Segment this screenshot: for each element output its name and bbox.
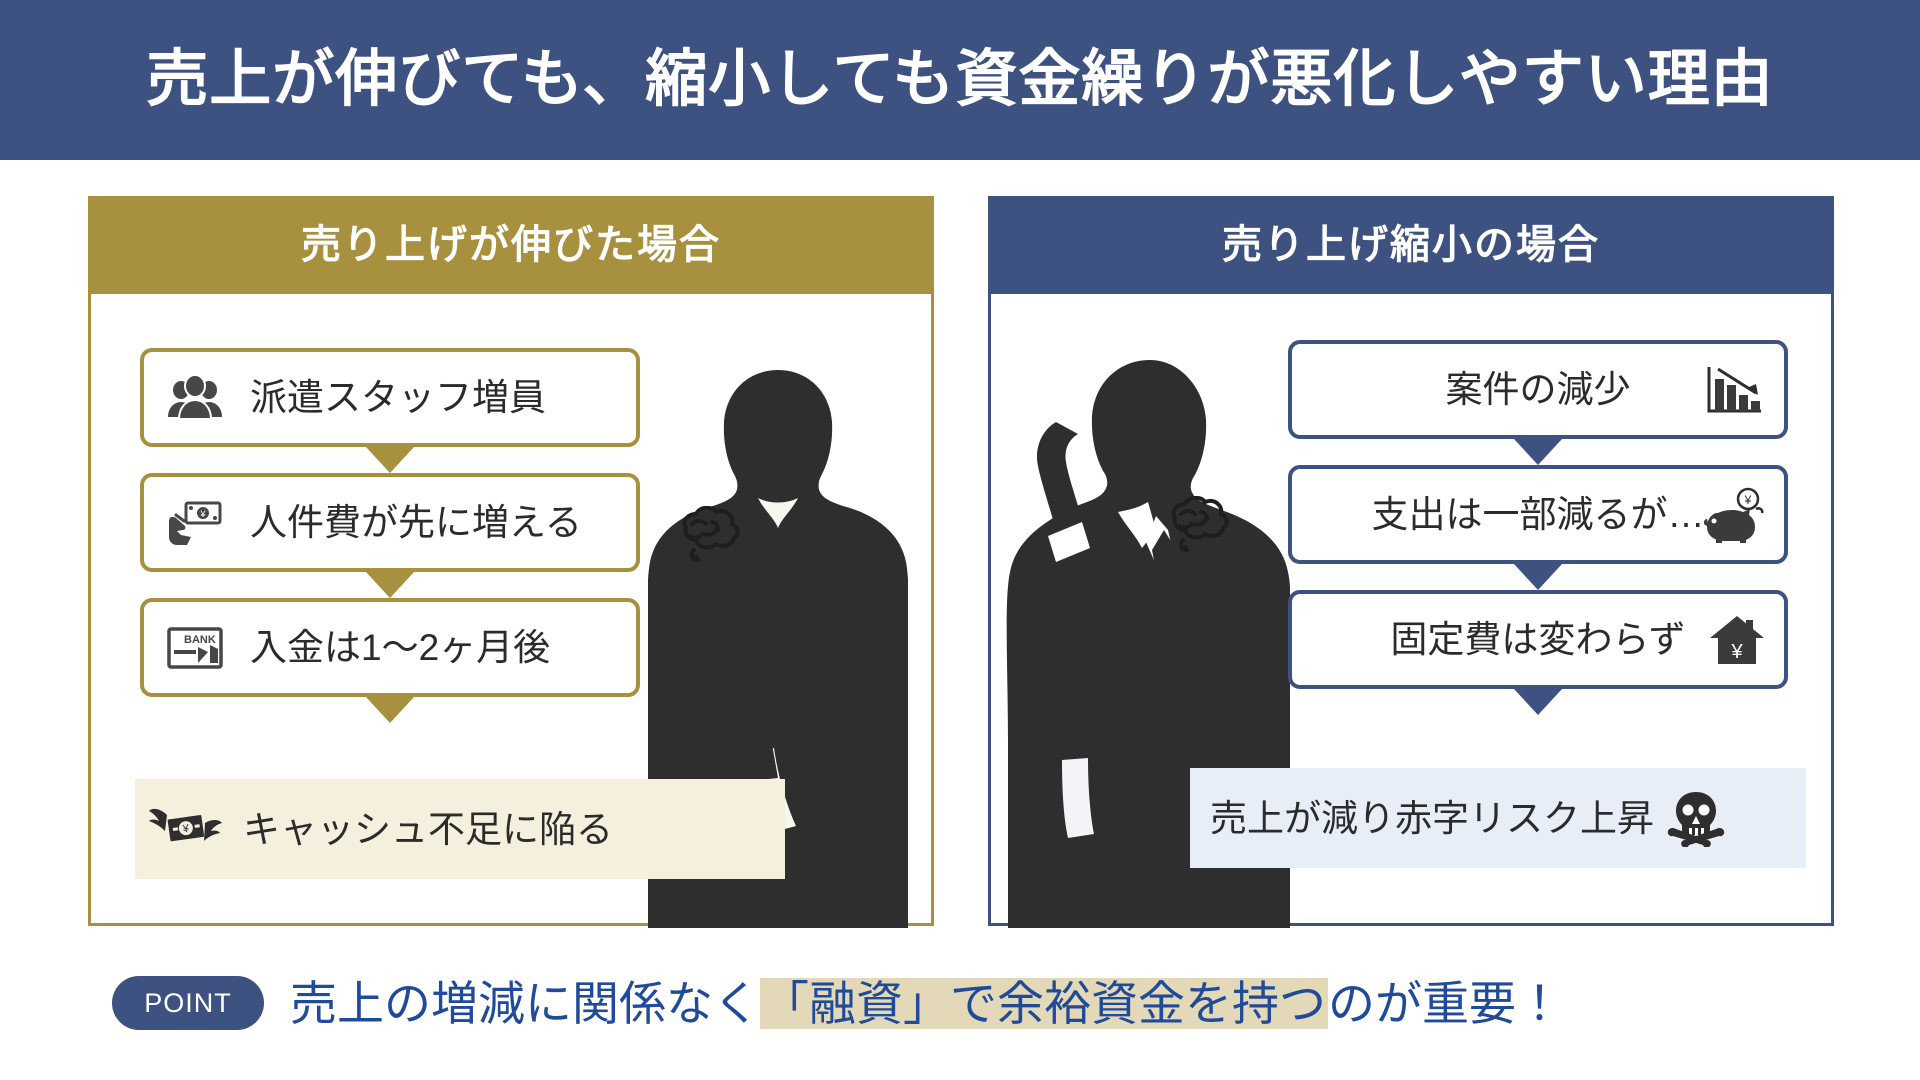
point-badge: POINT [112, 976, 264, 1030]
footer-point: POINT 売上の増減に関係なく 「融資」で余裕資金を持つ のが重要！ [0, 958, 1920, 1048]
page-header: 売上が伸びても、縮小しても資金繰りが悪化しやすい理由 [0, 0, 1920, 160]
panel-decline-header: 売り上げ縮小の場合 [988, 196, 1834, 294]
footer-text-after: のが重要！ [1328, 980, 1563, 1027]
flow-step-box[interactable]: BANK 入金は1〜2ヶ月後 [140, 598, 640, 697]
svg-text:¥: ¥ [1744, 493, 1752, 507]
outcome-band-growth: ¥ キャッシュ不足に陥る [135, 779, 785, 879]
flow-step-label: 派遣スタッフ増員 [250, 379, 546, 416]
flow-step-label: 案件の減少 [1446, 371, 1631, 408]
footer-text-highlight: 「融資」で余裕資金を持つ [760, 978, 1328, 1029]
flow-arrow [1288, 564, 1788, 590]
outcome-label: キャッシュ不足に陥る [243, 811, 613, 848]
flow-arrow [1288, 439, 1788, 465]
svg-text:BANK: BANK [184, 634, 216, 646]
panel-growth-header: 売り上げが伸びた場合 [88, 196, 934, 294]
flow-arrow [1288, 689, 1788, 715]
footer-text-before: 売上の増減に関係なく [290, 980, 760, 1027]
svg-text:¥: ¥ [199, 509, 206, 519]
flow-step-box[interactable]: 固定費は変わらず ¥ [1288, 590, 1788, 689]
flow-step-label: 支出は一部減るが… [1372, 496, 1705, 533]
hand-holding-money-icon: ¥ [166, 499, 224, 547]
piggy-bank-coin-icon: ¥ [1704, 487, 1766, 543]
skull-crossbones-icon [1666, 789, 1726, 847]
outcome-band-decline: 売上が減り赤字リスク上昇 [1190, 768, 1806, 868]
flow-decline: 案件の減少 支出は一部減るが… ¥ [1288, 340, 1788, 715]
flow-arrow [140, 447, 640, 473]
flow-step-label: 入金は1〜2ヶ月後 [250, 629, 550, 666]
flow-step-box[interactable]: 支出は一部減るが… ¥ [1288, 465, 1788, 564]
flow-step-box[interactable]: 派遣スタッフ増員 [140, 348, 640, 447]
flow-arrow [140, 572, 640, 598]
flow-growth: 派遣スタッフ増員 ¥ 人件費が先に増える BANK [140, 348, 640, 723]
panel-decline-title: 売り上げ縮小の場合 [1222, 225, 1600, 265]
flying-money-icon: ¥ [145, 801, 229, 857]
flow-step-box[interactable]: ¥ 人件費が先に増える [140, 473, 640, 572]
page-title: 売上が伸びても、縮小しても資金繰りが悪化しやすい理由 [146, 49, 1773, 111]
flow-step-label: 固定費は変わらず [1390, 621, 1685, 658]
bank-icon: BANK [166, 625, 224, 671]
footer-message: 売上の増減に関係なく 「融資」で余裕資金を持つ のが重要！ [290, 978, 1563, 1029]
flow-step-box[interactable]: 案件の減少 [1288, 340, 1788, 439]
people-group-icon [166, 375, 224, 421]
panel-growth-title: 売り上げが伸びた場合 [301, 225, 721, 265]
flow-step-label: 人件費が先に増える [250, 504, 582, 541]
declining-bar-chart-icon [1704, 363, 1766, 417]
house-yen-icon: ¥ [1708, 612, 1766, 668]
scribble-thought-cloud-icon [672, 506, 742, 566]
scribble-thought-cloud-icon [1161, 496, 1231, 556]
flow-arrow [140, 697, 640, 723]
svg-text:¥: ¥ [1730, 641, 1743, 663]
point-badge-label: POINT [144, 990, 232, 1017]
outcome-label: 売上が減り赤字リスク上昇 [1210, 800, 1654, 837]
